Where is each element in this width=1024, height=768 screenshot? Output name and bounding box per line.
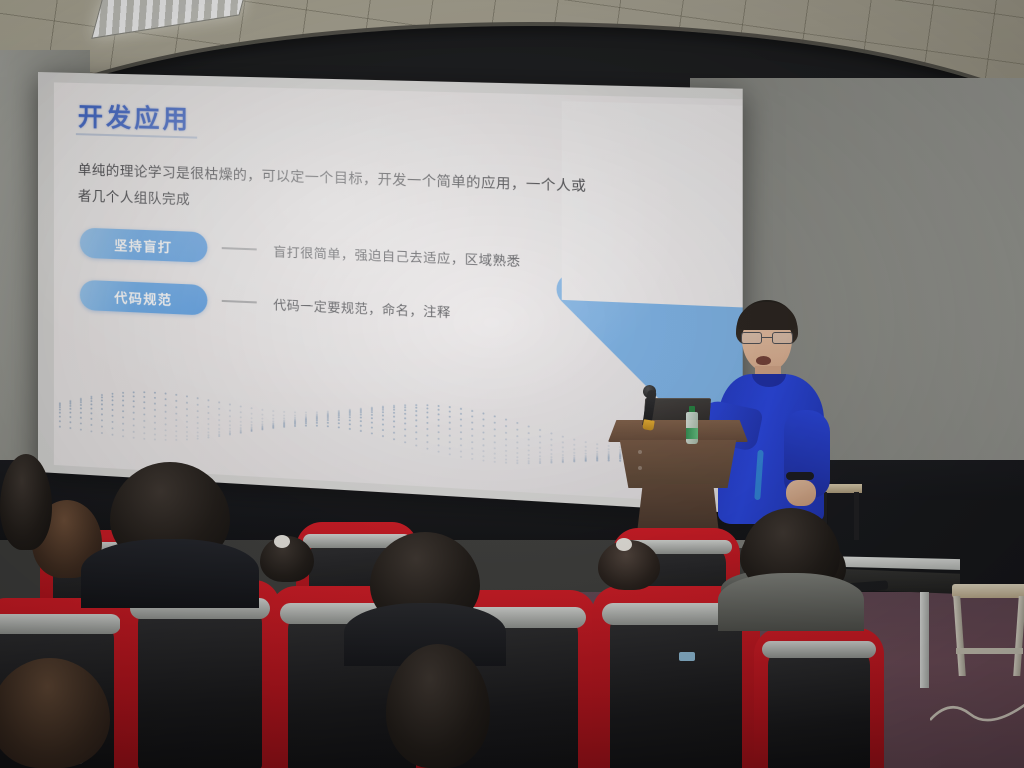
speaker-mouth	[756, 356, 771, 365]
wooden-stool	[952, 584, 1024, 688]
seat-cushion	[138, 605, 263, 768]
podium-knob	[638, 466, 642, 470]
slide-point-row-2: 代码规范 代码一定要规范，命名，注释	[80, 280, 451, 327]
audience-hair	[0, 658, 110, 768]
audience-hair	[386, 644, 490, 768]
podium-face	[616, 440, 740, 488]
slide-point-pill-2: 代码规范	[80, 280, 208, 316]
lecture-hall-scene: 开发应用 单纯的理论学习是很枯燥的，可以定一个目标，开发一个简单的应用，一个人或…	[0, 0, 1024, 768]
slide-point-row-1: 坚持盲打 盲打很简单，强迫自己去适应，区域熟悉	[80, 228, 521, 276]
slide-point-desc-2: 代码一定要规范，命名，注释	[273, 293, 451, 320]
audience-shoulders	[81, 539, 259, 608]
audience-head	[370, 532, 480, 628]
table-leg	[920, 592, 929, 688]
slide-point-connector-1	[222, 247, 257, 250]
seat-number-tag	[679, 652, 695, 661]
audience-head	[742, 508, 840, 596]
slide-body-text: 单纯的理论学习是很枯燥的，可以定一个目标，开发一个简单的应用，一个人或者几个人组…	[78, 157, 601, 228]
hair-clip-icon	[274, 535, 290, 548]
slide-title: 开发应用	[78, 97, 191, 136]
stool-seat	[952, 584, 1024, 598]
podium-top	[608, 420, 748, 442]
podium	[608, 420, 748, 542]
seat-top-bar	[0, 614, 121, 634]
water-bottle-icon	[686, 404, 698, 444]
slide-point-connector-2	[222, 300, 257, 303]
auditorium-seat[interactable]	[120, 580, 280, 768]
stool-leg	[953, 596, 966, 676]
audience-head	[260, 536, 314, 582]
glasses-lens-left	[741, 332, 762, 344]
speaker-hand-right	[786, 480, 816, 506]
stool-leg	[1013, 596, 1024, 676]
seat-cushion	[768, 647, 869, 768]
slide-point-desc-1: 盲打很简单，强迫自己去适应，区域熟悉	[273, 240, 520, 269]
podium-knob	[638, 450, 642, 454]
audience-head	[598, 540, 660, 590]
glasses-icon	[741, 332, 793, 344]
audience-head	[386, 644, 490, 768]
speaker-fringe	[737, 302, 797, 330]
glasses-lens-right	[772, 332, 793, 344]
audience-head	[110, 462, 230, 566]
floor-cable-icon	[930, 690, 1024, 730]
audience-hair	[0, 454, 52, 550]
audience-head	[0, 454, 52, 550]
microphone-base-band	[642, 419, 654, 431]
auditorium-seat[interactable]	[754, 628, 884, 768]
stool-background-leg	[854, 492, 859, 540]
glasses-bridge	[762, 337, 772, 338]
hair-clip-icon	[616, 538, 632, 551]
stool-rail	[956, 648, 1023, 654]
audience-head	[0, 658, 110, 768]
seat-top-bar	[762, 641, 876, 657]
bottle-label	[686, 428, 698, 439]
wristwatch-icon	[786, 472, 814, 480]
seat-cushion	[610, 611, 741, 768]
audience-shoulders	[718, 573, 863, 631]
slide-point-pill-1: 坚持盲打	[80, 228, 208, 263]
